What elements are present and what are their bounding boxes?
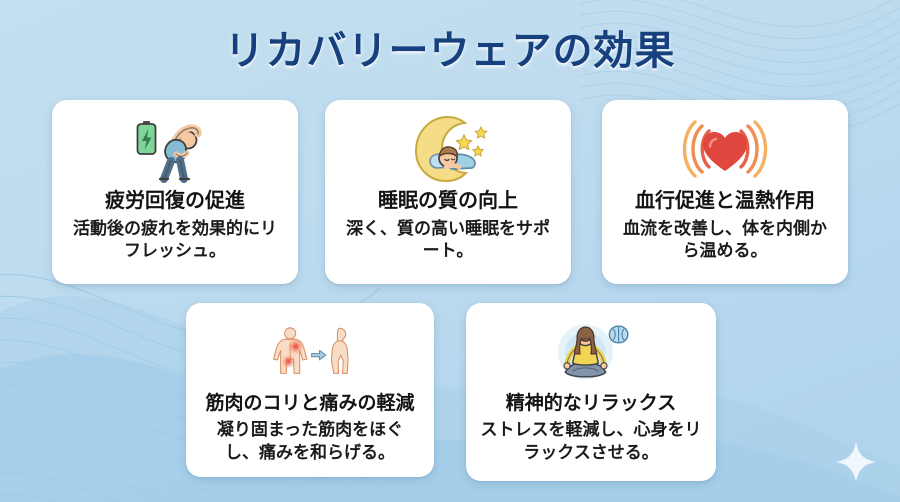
card-body-text: ストレスを軽減し、心身をリラックスさせる。 xyxy=(466,419,716,464)
sparkle-star-icon xyxy=(832,438,880,486)
card-body-text: 凝り固まった筋肉をほぐし、痛みを和らげる。 xyxy=(186,419,434,464)
wave-band-bottom-icon xyxy=(0,252,900,502)
card-heading: 血行促進と温熱作用 xyxy=(635,190,815,214)
benefit-card-mental-relaxation[interactable]: 精神的なリラックス ストレスを軽減し、心身をリラックスさせる。 xyxy=(466,303,716,481)
benefit-card-fatigue-recovery[interactable]: 疲労回復の促進 活動後の疲れを効果的にリフレッシュ。 xyxy=(52,100,298,284)
moon-sleeping-person-icon xyxy=(402,112,494,186)
brain-icon xyxy=(609,326,627,343)
slide-canvas: リカバリーウェアの効果 xyxy=(0,0,900,502)
benefit-card-muscle-pain-relief[interactable]: 筋肉のコリと痛みの軽減 凝り固まった筋肉をほぐし、痛みを和らげる。 xyxy=(186,303,434,477)
heart-pulse-waves-icon xyxy=(679,112,771,186)
card-body-text: 深く、質の高い睡眠をサポート。 xyxy=(325,218,571,263)
slide-title: リカバリーウェアの効果 xyxy=(0,18,900,76)
card-heading: 筋肉のコリと痛みの軽減 xyxy=(205,393,414,415)
arrow-right-icon xyxy=(312,350,326,360)
card-heading: 精神的なリラックス xyxy=(506,393,676,415)
card-heading: 疲労回復の促進 xyxy=(105,190,245,214)
benefit-card-sleep-quality[interactable]: 睡眠の質の向上 深く、質の高い睡眠をサポート。 xyxy=(325,100,571,284)
card-body-text: 血流を改善し、体を内側から温める。 xyxy=(602,218,848,263)
benefit-card-circulation-warmth[interactable]: 血行促進と温熱作用 血流を改善し、体を内側から温める。 xyxy=(602,100,848,284)
meditating-person-brain-icon xyxy=(545,315,637,389)
stretching-person-battery-icon xyxy=(129,112,221,186)
card-heading: 睡眠の質の向上 xyxy=(378,190,518,214)
body-pain-relief-icon xyxy=(264,315,356,389)
card-body-text: 活動後の疲れを効果的にリフレッシュ。 xyxy=(52,218,298,263)
